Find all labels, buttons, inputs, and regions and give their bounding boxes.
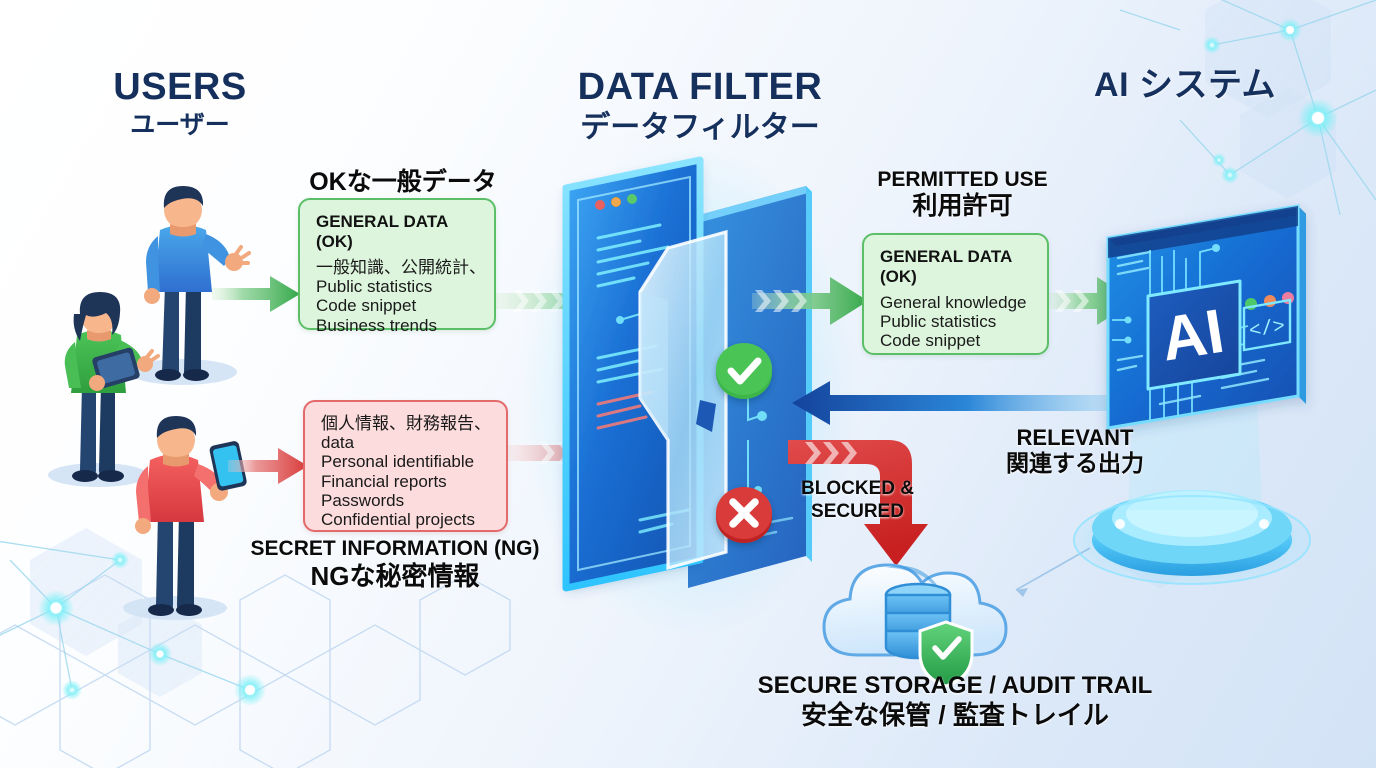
heading-data-filter: DATA FILTER データフィルター bbox=[540, 68, 860, 144]
card-permitted-title: GENERAL DATA (OK) bbox=[880, 247, 1033, 287]
caption-permitted-jp: 利用許可 bbox=[855, 192, 1070, 221]
arrow-green-permitted-to-ai bbox=[1049, 277, 1135, 325]
card-secret-data-input: 個人情報、財務報告、 data Personal identifiable Fi… bbox=[303, 400, 508, 532]
card-secret-line: Passwords bbox=[321, 491, 492, 510]
card-general-line: Public statistics bbox=[316, 277, 480, 296]
secure-storage-cloud bbox=[824, 548, 1090, 686]
caption-permitted-use: PERMITTED USE 利用許可 bbox=[855, 168, 1070, 221]
card-permitted-line: Public statistics bbox=[880, 312, 1033, 331]
database-icon bbox=[886, 584, 950, 658]
arrow-green-filter-to-permitted bbox=[752, 277, 868, 325]
card-permitted-line: General knowledge bbox=[880, 293, 1033, 312]
caption-storage-jp: 安全な保管 / 監査トレイル bbox=[735, 700, 1175, 731]
card-general-line: 一般知識、公開統計、 bbox=[316, 258, 480, 277]
card-secret-line: Financial reports bbox=[321, 472, 492, 491]
svg-text:</>: </> bbox=[1248, 315, 1287, 343]
arrow-green-user-to-card bbox=[212, 276, 300, 312]
card-general-line: Code snippet bbox=[316, 296, 480, 315]
card-secret-line: data bbox=[321, 433, 492, 452]
allow-check-badge bbox=[716, 343, 772, 399]
arrow-green-card-to-filter bbox=[496, 277, 706, 325]
heading-users-jp: ユーザー bbox=[60, 112, 300, 140]
ai-chip-label: AI bbox=[1156, 297, 1228, 375]
code-icon: </> bbox=[1244, 300, 1290, 350]
heading-users-en: USERS bbox=[60, 68, 300, 108]
heading-filter-en: DATA FILTER bbox=[540, 68, 860, 108]
card-permitted-output: GENERAL DATA (OK) General knowledge Publ… bbox=[862, 233, 1049, 355]
caption-relevant-output: RELEVANT 関連する出力 bbox=[970, 425, 1180, 477]
arrow-blue-ai-to-filter bbox=[792, 381, 1110, 425]
card-secret-line: Confidential projects bbox=[321, 510, 492, 529]
ai-system-monitor: AI </> bbox=[1074, 206, 1310, 584]
card-general-data-input: GENERAL DATA (OK) 一般知識、公開統計、 Public stat… bbox=[298, 198, 496, 330]
card-general-line: Business trends bbox=[316, 316, 480, 335]
card-permitted-line: Code snippet bbox=[880, 331, 1033, 350]
caption-blocked-secured: BLOCKED & SECURED bbox=[795, 478, 920, 524]
heading-filter-jp: データフィルター bbox=[540, 111, 860, 144]
heading-users: USERS ユーザー bbox=[60, 68, 300, 139]
diagram-canvas: AI </> USERS ユーザー DATA FILTER データフィルター A… bbox=[0, 0, 1376, 768]
card-general-title: GENERAL DATA (OK) bbox=[316, 212, 480, 252]
arrow-red-card-to-filter bbox=[508, 429, 698, 477]
caption-secure-storage: SECURE STORAGE / AUDIT TRAIL 安全な保管 / 監査ト… bbox=[735, 672, 1175, 731]
arrow-red-user-to-card bbox=[228, 448, 308, 484]
caption-relevant-en: RELEVANT bbox=[970, 425, 1180, 450]
caption-ok-general: OKな一般データ bbox=[283, 162, 523, 198]
heading-ai-system: AI システム bbox=[1040, 68, 1330, 104]
card-secret-line: 個人情報、財務報告、 bbox=[321, 414, 492, 433]
heading-ai-en: AI システム bbox=[1040, 68, 1330, 104]
ai-chip: AI bbox=[1148, 281, 1240, 389]
card-secret-line: Personal identifiable bbox=[321, 452, 492, 471]
caption-secret-en: SECRET INFORMATION (NG) bbox=[215, 536, 575, 561]
caption-relevant-jp: 関連する出力 bbox=[970, 450, 1180, 476]
caption-secret-jp: NGな秘密情報 bbox=[215, 561, 575, 592]
caption-permitted-en: PERMITTED USE bbox=[855, 168, 1070, 192]
deny-cross-badge bbox=[716, 487, 772, 543]
caption-storage-en: SECURE STORAGE / AUDIT TRAIL bbox=[735, 672, 1175, 700]
caption-secret-information: SECRET INFORMATION (NG) NGな秘密情報 bbox=[215, 536, 575, 592]
